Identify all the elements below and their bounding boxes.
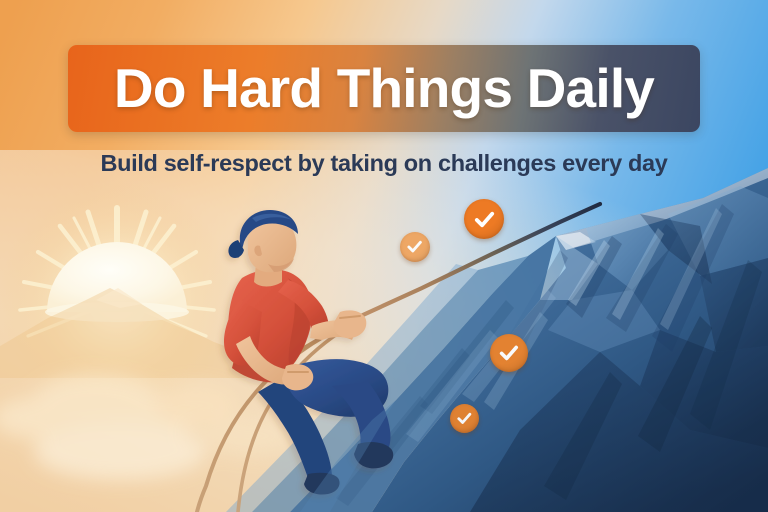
subtitle-text: Build self-respect by taking on challeng…: [0, 150, 768, 177]
page-title: Do Hard Things Daily: [114, 61, 654, 116]
check-icon: [406, 238, 423, 255]
check-badge-3[interactable]: [490, 334, 528, 372]
check-badge-1[interactable]: [400, 232, 430, 262]
check-icon: [456, 410, 473, 427]
poster-canvas: Do Hard Things Daily Build self-respect …: [0, 0, 768, 512]
check-badge-4[interactable]: [450, 404, 479, 433]
check-icon: [473, 208, 496, 231]
check-icon: [498, 342, 520, 364]
title-banner: Do Hard Things Daily: [68, 45, 700, 132]
check-badge-2[interactable]: [464, 199, 504, 239]
